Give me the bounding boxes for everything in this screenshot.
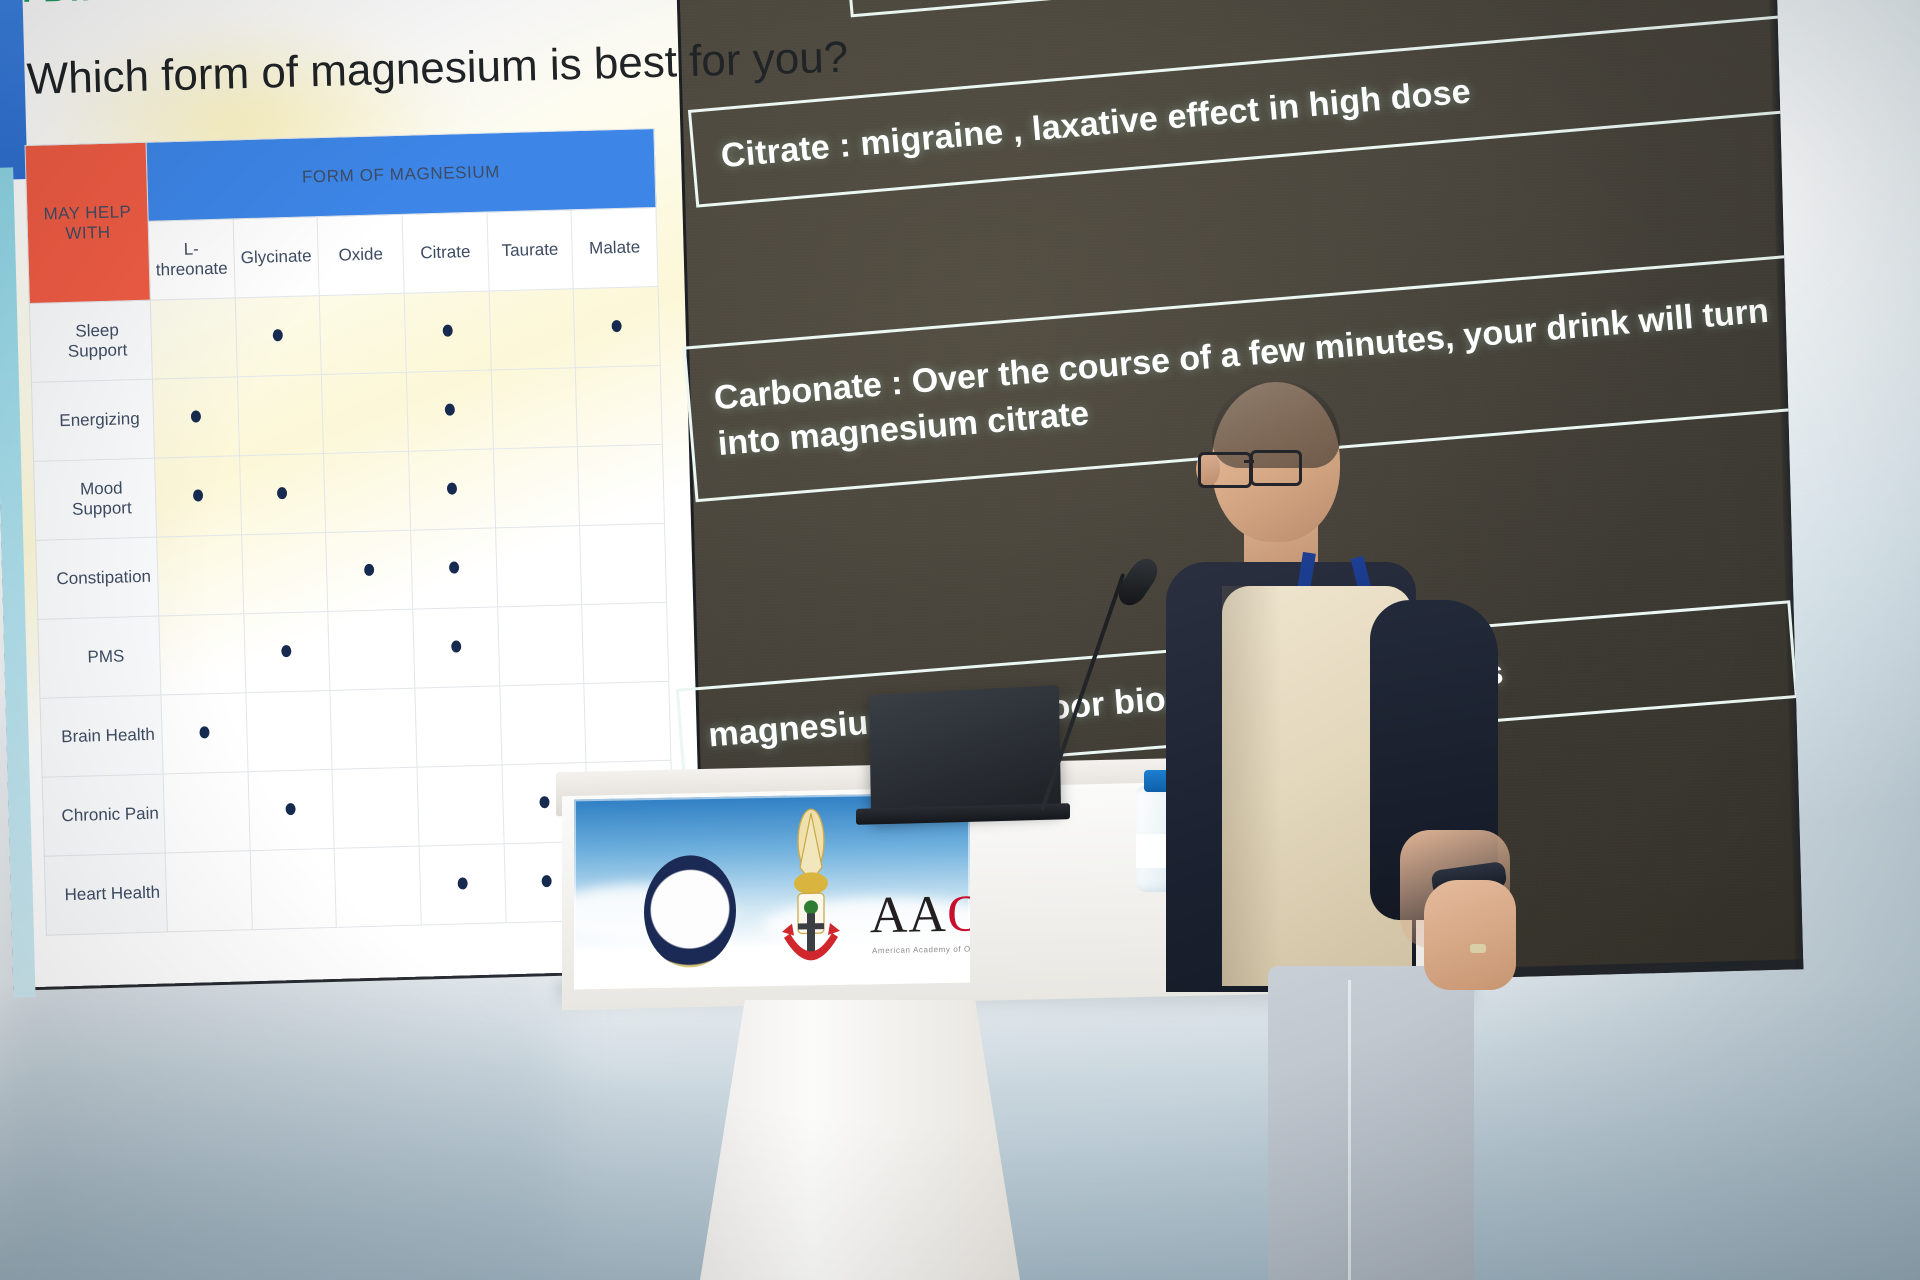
finger-ring-icon	[1470, 944, 1486, 953]
table-cell-empty	[163, 772, 250, 853]
table-cell-empty	[322, 372, 409, 453]
table-cell-empty	[491, 368, 578, 449]
speaker-vest-shading	[1222, 586, 1282, 986]
table-cell-marked	[408, 449, 495, 530]
table-cell-empty	[582, 602, 669, 683]
table-cell-empty	[241, 533, 328, 614]
podium-column	[700, 1000, 1020, 1280]
table-cell-empty	[332, 767, 419, 848]
eyeglasses-right-lens-icon	[1250, 450, 1302, 486]
table-row-label: PMS	[38, 616, 161, 698]
bullet-dot-icon	[542, 875, 552, 887]
table-cell-marked	[152, 377, 239, 458]
table-cell-empty	[320, 293, 407, 374]
eyeglasses-left-lens-icon	[1198, 452, 1252, 488]
bullet-dot-icon	[364, 564, 374, 576]
table-cell-marked	[235, 296, 322, 377]
table-cell-empty	[165, 851, 252, 932]
table-cell-empty	[250, 848, 337, 929]
bullet-dot-icon	[451, 640, 461, 652]
table-head: MAY HELP WITH FORM OF MAGNESIUM L-threon…	[25, 128, 658, 303]
bullet-dot-icon	[191, 410, 201, 422]
presenter-laptop[interactable]	[869, 685, 1061, 820]
table-row-label: Energizing	[31, 379, 154, 461]
table-cell-empty	[237, 375, 324, 456]
table-cell-empty	[159, 614, 246, 695]
table-cell-empty	[324, 451, 411, 532]
table-column-header: Glycinate	[233, 217, 320, 298]
table-cell-marked	[326, 530, 413, 611]
bullet-dot-icon	[193, 489, 203, 501]
table-row-label: Sleep Support	[29, 300, 152, 382]
aaos-logo-text: AAOS	[870, 884, 970, 946]
bullet-dot-icon	[282, 645, 292, 657]
table-cell-empty	[415, 686, 502, 767]
table-cell-empty	[334, 846, 421, 927]
eyeglasses-bridge	[1244, 460, 1254, 463]
table-cell-empty	[246, 690, 333, 771]
table-cell-marked	[573, 286, 660, 367]
table-cell-empty	[330, 688, 417, 769]
conference-photo-scene: 4 Diffe Which form of magnesium is best …	[0, 0, 1920, 1280]
table-group-header: FORM OF MAGNESIUM	[146, 128, 656, 221]
table-cell-marked	[248, 769, 335, 850]
table-cell-empty	[576, 365, 663, 446]
bullet-dot-icon	[612, 320, 622, 332]
table-row-label: Chronic Pain	[42, 774, 165, 856]
slide-kicker-text: 4 Diffe	[12, 0, 125, 11]
table-cell-marked	[155, 456, 242, 537]
table-cell-empty	[328, 609, 415, 690]
table-cell-marked	[161, 693, 248, 774]
table-column-header: Malate	[571, 207, 658, 288]
table-cell-empty	[578, 444, 665, 525]
trouser-crease	[1348, 980, 1351, 1280]
table-cell-marked	[243, 611, 330, 692]
table-cell-marked	[419, 844, 506, 925]
table-column-header: Oxide	[317, 214, 404, 295]
bullet-dot-icon	[286, 803, 296, 815]
slide-blue-accent-bar	[0, 0, 27, 180]
table-cell-empty	[493, 447, 580, 528]
table-column-header: Taurate	[487, 210, 574, 291]
speaker-hand	[1424, 880, 1516, 990]
bullet-dot-icon	[444, 403, 454, 415]
bullet-dot-icon	[273, 329, 283, 341]
table-cell-marked	[404, 291, 491, 372]
table-cell-empty	[580, 523, 667, 604]
table-cell-empty	[499, 684, 586, 765]
table-cell-empty	[497, 605, 584, 686]
bullet-dot-icon	[447, 482, 457, 494]
table-cell-marked	[239, 454, 326, 535]
table-cell-empty	[584, 681, 671, 762]
table-column-header: Citrate	[402, 212, 489, 293]
table-cell-marked	[411, 528, 498, 609]
table-cell-empty	[495, 526, 582, 607]
table-cell-empty	[150, 298, 237, 379]
table-row-label: Constipation	[36, 537, 159, 619]
table-row-label: Mood Support	[34, 458, 157, 540]
taiwan-orthopaedic-association-seal-icon	[644, 855, 736, 969]
thai-royal-emblem-icon	[774, 807, 848, 980]
table-column-header: L-threonate	[148, 219, 235, 300]
row-header-label: MAY HELP WITH	[25, 142, 150, 303]
bullet-dot-icon	[442, 325, 452, 337]
table-cell-marked	[413, 607, 500, 688]
table-row-label: Brain Health	[40, 695, 163, 777]
bullet-dot-icon	[199, 726, 209, 738]
table-cell-marked	[406, 370, 493, 451]
bullet-dot-icon	[449, 561, 459, 573]
speaker-trousers	[1268, 966, 1474, 1280]
table-cell-empty	[417, 765, 504, 846]
bullet-dot-icon	[457, 877, 467, 889]
table-cell-empty	[157, 535, 244, 616]
aaos-o-glyph: O	[947, 885, 970, 943]
bullet-dot-icon	[277, 487, 287, 499]
bullet-dot-icon	[540, 796, 550, 808]
table-row-label: Heart Health	[44, 853, 167, 935]
table-cell-empty	[489, 289, 576, 370]
